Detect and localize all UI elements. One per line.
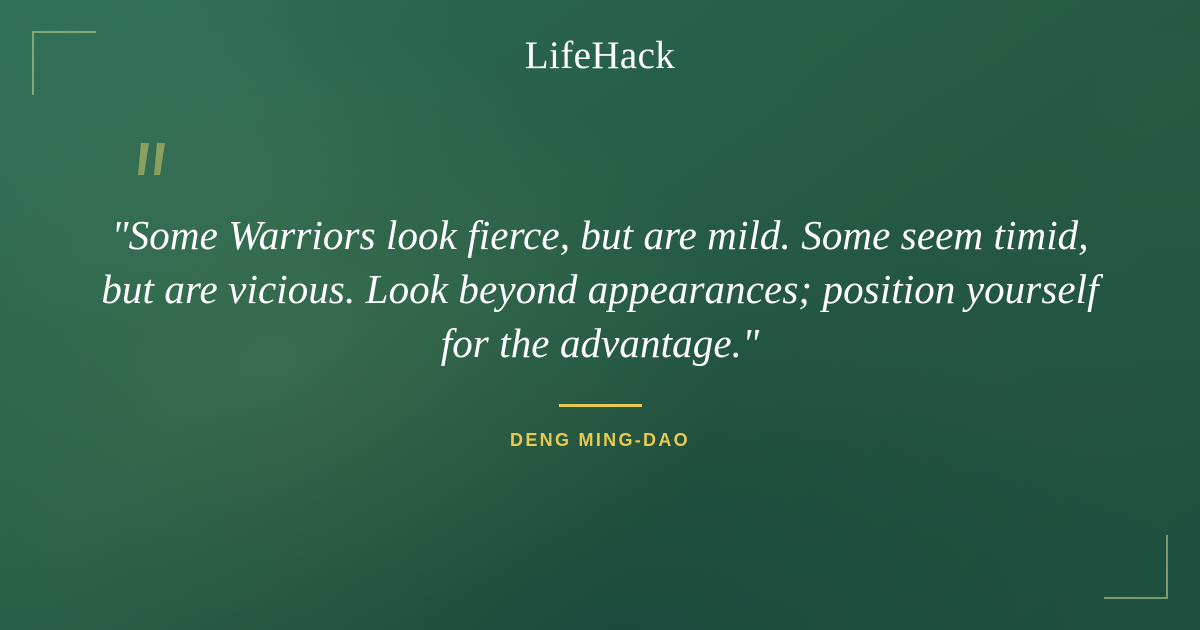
author-name: DENG MING-DAO: [0, 430, 1200, 451]
attribution-divider: [559, 404, 642, 407]
quote-block: "Some Warriors look fierce, but are mild…: [80, 208, 1120, 370]
brand-name: LifeHack: [525, 36, 675, 75]
quote-text: "Some Warriors look fierce, but are mild…: [80, 208, 1120, 370]
corner-bracket-bottom-right: [1104, 535, 1168, 599]
double-quote-icon: [128, 141, 180, 193]
attribution-block: DENG MING-DAO: [0, 404, 1200, 451]
brand-logo: LifeHack: [0, 36, 1200, 75]
quote-card: LifeHack "Some Warriors look fierce, but…: [0, 0, 1200, 630]
